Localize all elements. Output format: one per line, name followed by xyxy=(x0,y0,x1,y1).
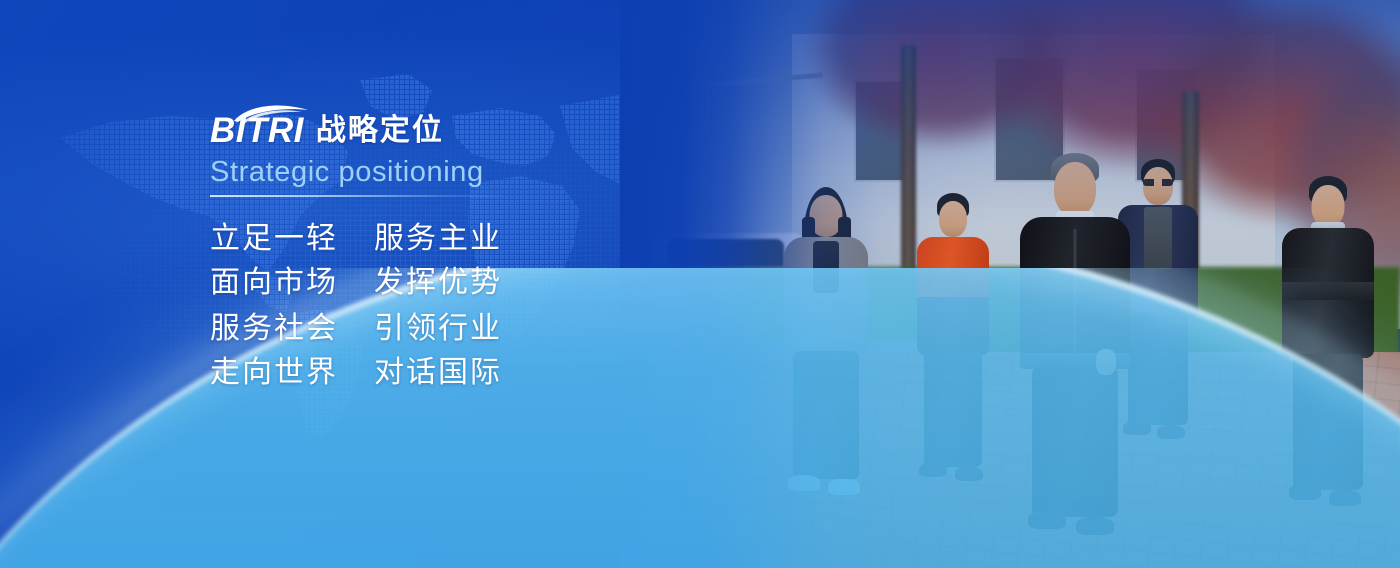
slogan-right: 引领行业 xyxy=(374,307,502,351)
slogan-row: 走向世界 对话国际 xyxy=(210,351,670,395)
brand-title-cn: 战略定位 xyxy=(316,116,444,148)
slogan-row: 面向市场 发挥优势 xyxy=(210,261,670,305)
slogan-left: 走向世界 xyxy=(210,351,338,395)
slogan-right: 服务主业 xyxy=(374,217,502,261)
slogan-right: 对话国际 xyxy=(374,351,502,395)
people-photo xyxy=(620,0,1400,568)
slogan-left: 服务社会 xyxy=(210,307,338,351)
brand-subtitle-en: Strategic positioning xyxy=(210,157,670,189)
slogan-list: 立足一轻 服务主业 面向市场 发挥优势 服务社会 引领行业 走向世界 对话国际 xyxy=(210,217,670,395)
slogan-right: 发挥优势 xyxy=(374,261,502,305)
slogan-row: 立足一轻 服务主业 xyxy=(210,217,670,261)
strategic-positioning-banner: BITRI 战略定位 Strategic positioning 立足一轻 服务… xyxy=(0,0,1400,568)
banner-text-block: BITRI 战略定位 Strategic positioning 立足一轻 服务… xyxy=(210,104,670,395)
slogan-left: 立足一轻 xyxy=(210,217,338,261)
brand-row: BITRI 战略定位 xyxy=(210,104,670,148)
slogan-row: 服务社会 引领行业 xyxy=(210,307,670,351)
photo-left-fade xyxy=(620,0,1400,568)
slogan-left: 面向市场 xyxy=(210,261,338,305)
bitri-logo: BITRI xyxy=(210,107,304,148)
swoosh-arc-icon xyxy=(232,103,310,123)
divider-rule xyxy=(210,195,510,197)
